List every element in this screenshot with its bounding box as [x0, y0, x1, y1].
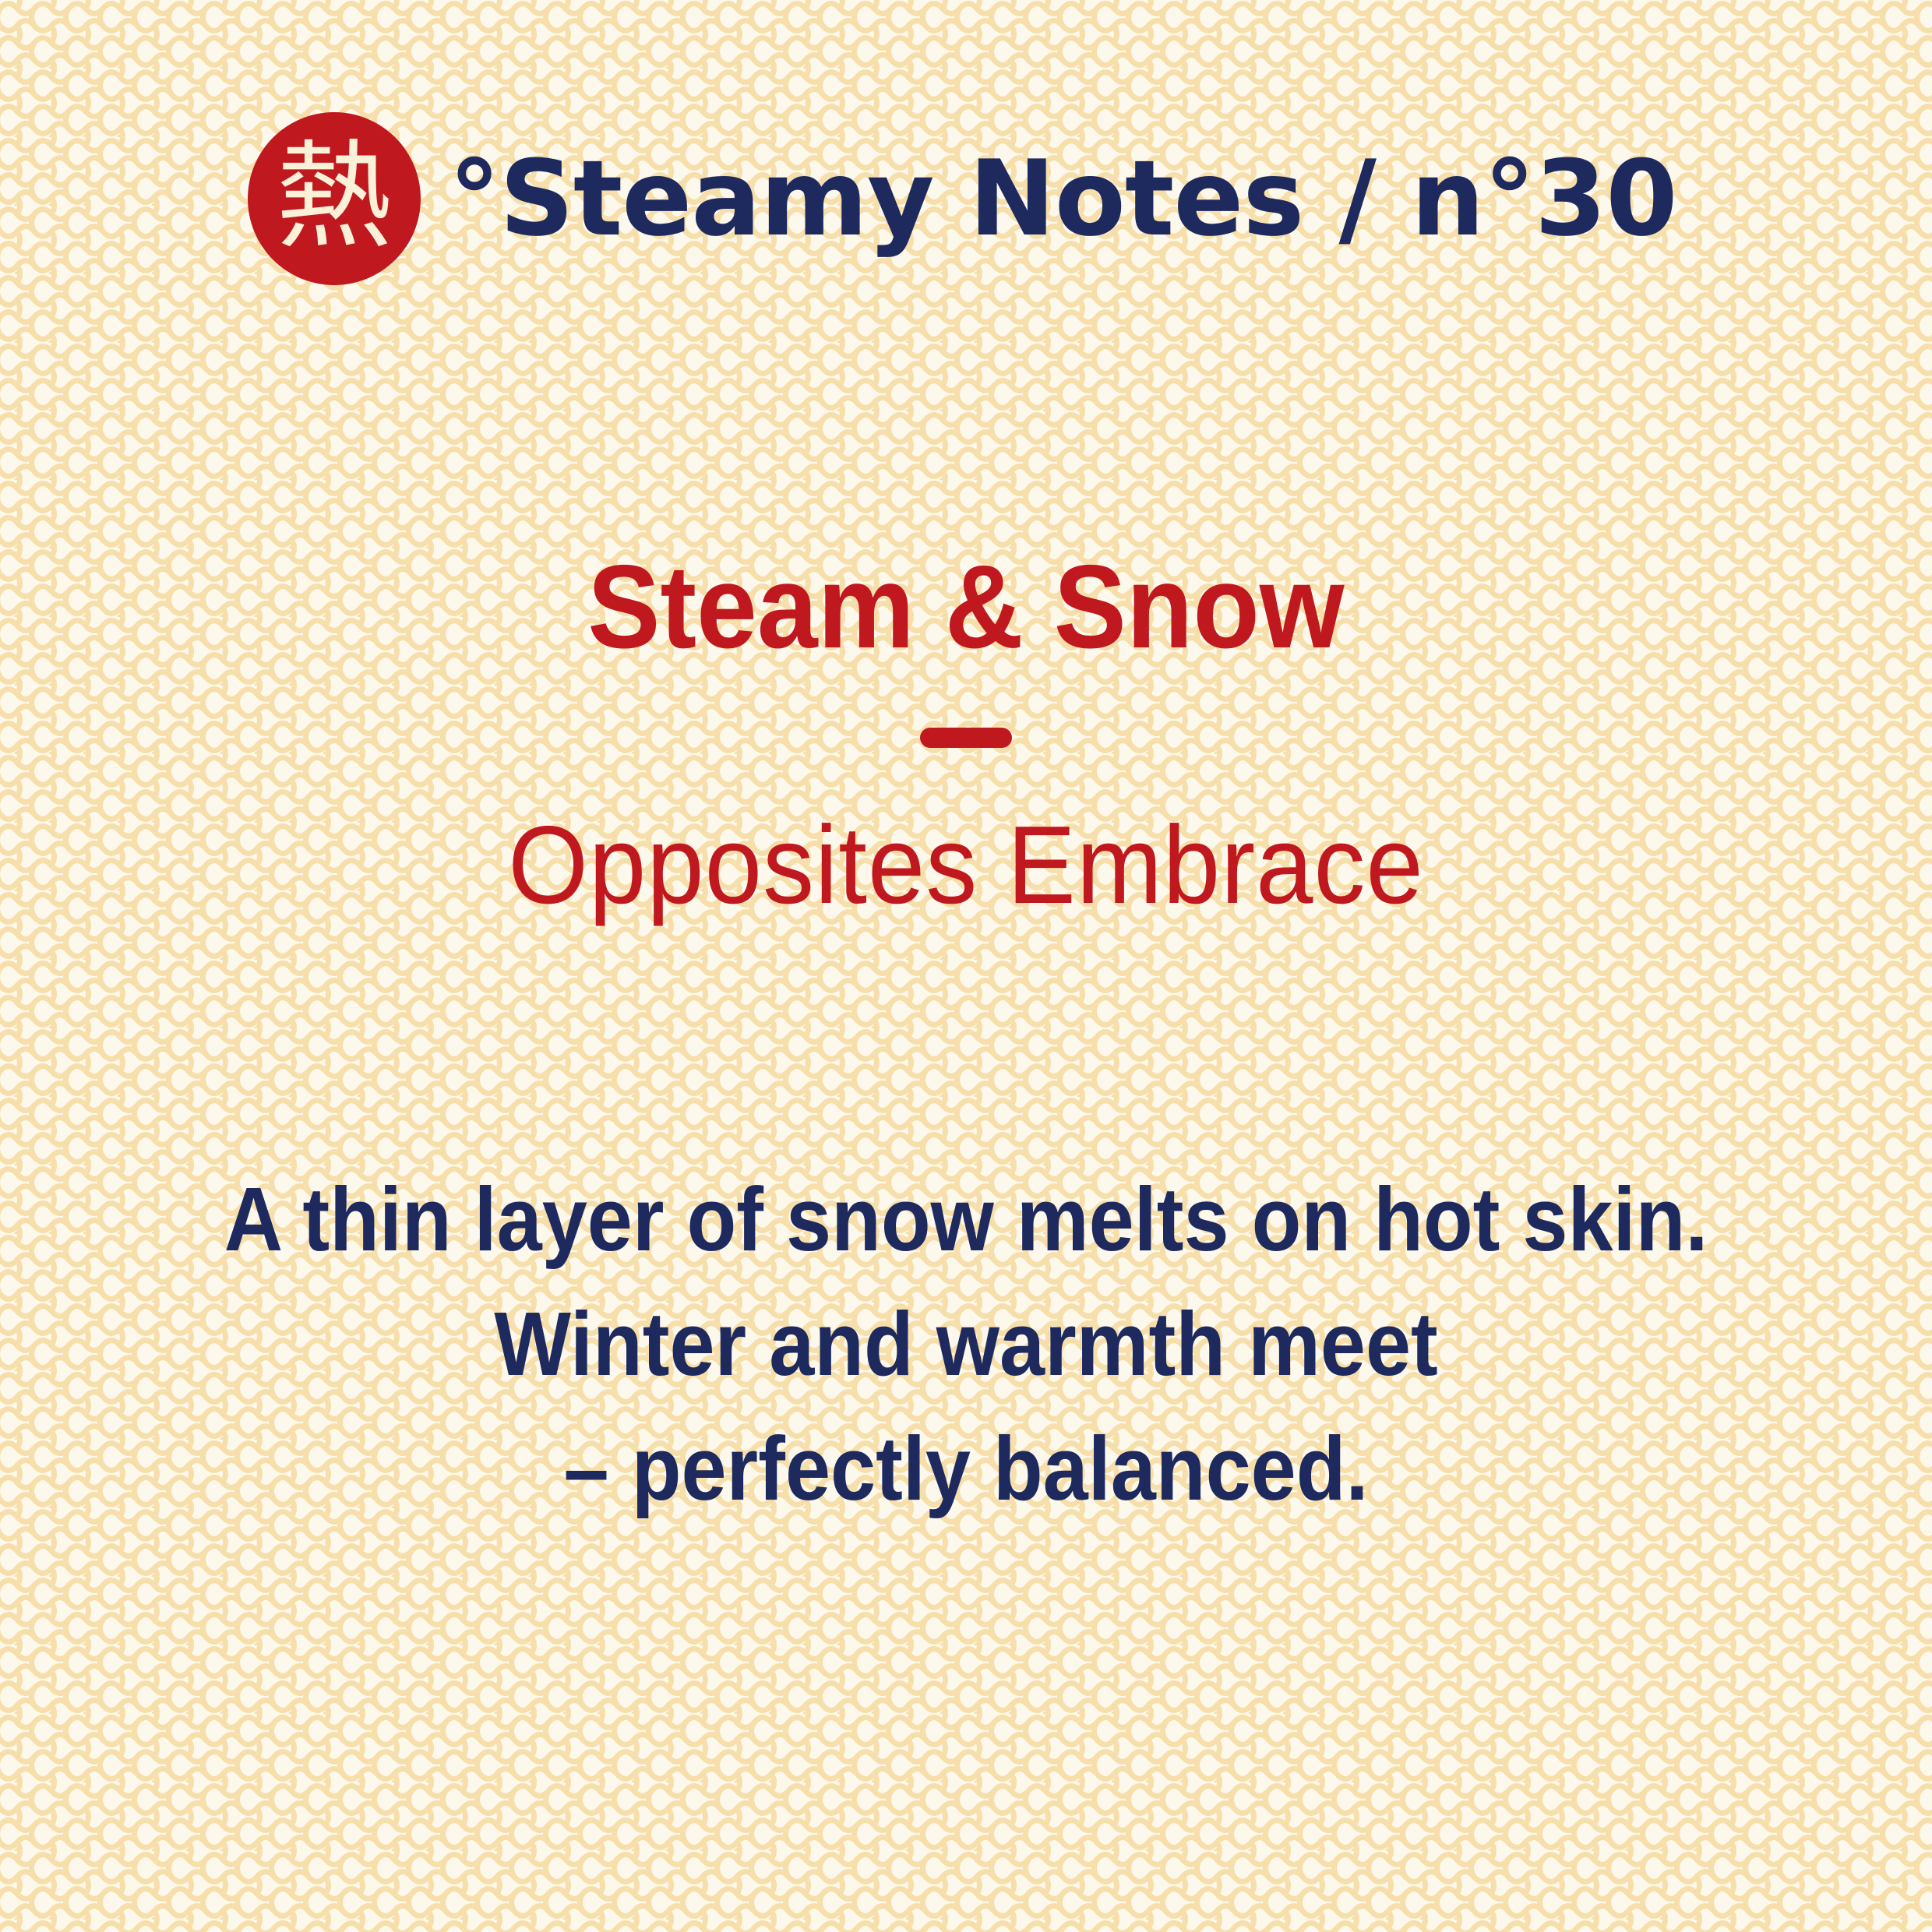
heat-kanji-glyph: 熱: [276, 139, 393, 256]
divider-rule: [920, 728, 1012, 748]
headline: Steam & Snow: [587, 545, 1344, 670]
body-text: A thin layer of snow melts on hot skin. …: [224, 1157, 1708, 1531]
body-line: Winter and warmth meet: [224, 1282, 1708, 1406]
body-line: – perfectly balanced.: [224, 1406, 1708, 1531]
body-line: A thin layer of snow melts on hot skin.: [224, 1157, 1708, 1282]
heat-kanji-seal-icon: 熱: [248, 112, 421, 285]
page-title: °Steamy Notes / n°30: [449, 146, 1677, 251]
poster-header: 熱 °Steamy Notes / n°30: [248, 109, 1815, 288]
poster-main: Steam & Snow Opposites Embrace A thin la…: [117, 288, 1815, 1815]
poster-content: 熱 °Steamy Notes / n°30 Steam & Snow Oppo…: [0, 0, 1932, 1932]
poster-card: 熱 °Steamy Notes / n°30 Steam & Snow Oppo…: [0, 0, 1932, 1932]
subheadline: Opposites Embrace: [508, 807, 1424, 923]
